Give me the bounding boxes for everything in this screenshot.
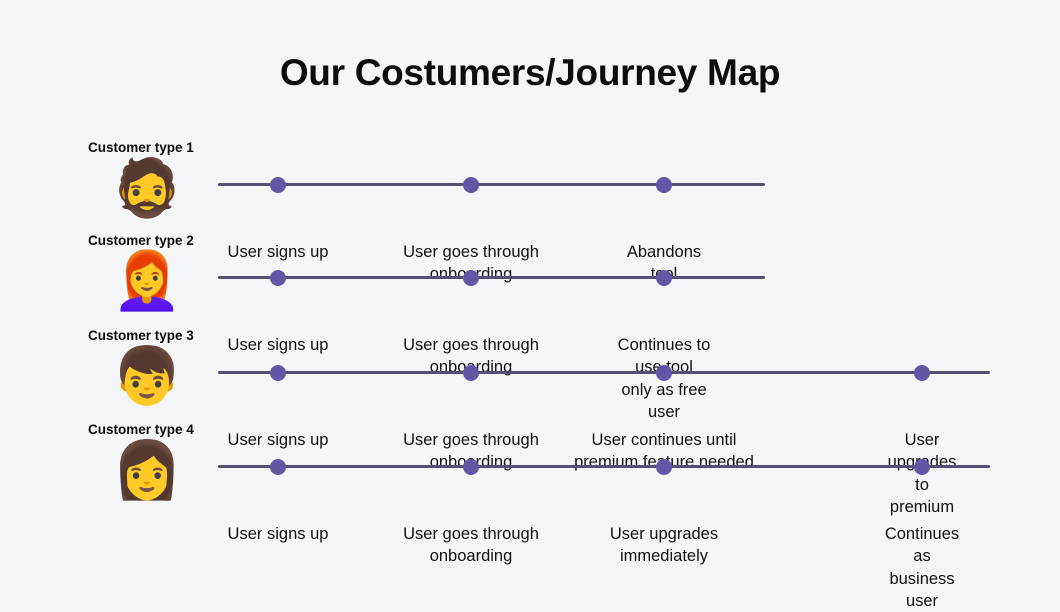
timeline-track: User signs up User goes through onboardi… (218, 371, 990, 375)
timeline-milestone-dot[interactable] (270, 177, 286, 193)
timeline-line (218, 276, 765, 279)
journey-map-canvas: Our Costumers/Journey Map Customer type … (0, 0, 1060, 612)
timeline-step-label: User signs up (228, 523, 329, 545)
timeline-line (218, 183, 765, 186)
timeline-milestone-dot[interactable] (463, 270, 479, 286)
customer-type-label: Customer type 4 (88, 422, 194, 437)
timeline-line (218, 465, 990, 468)
timeline-step-label: User signs up (228, 334, 329, 356)
timeline-step-label: User signs up (228, 241, 329, 263)
timeline-milestone-dot[interactable] (656, 459, 672, 475)
timeline-milestone-dot[interactable] (463, 459, 479, 475)
customer-type-label: Customer type 3 (88, 328, 194, 343)
page-title: Our Costumers/Journey Map (0, 52, 1060, 94)
timeline-milestone-dot[interactable] (914, 365, 930, 381)
timeline-step-label: Continues as business user (885, 523, 959, 612)
bearded-man-emoji: 🧔 (112, 158, 174, 220)
timeline-milestone-dot[interactable] (270, 365, 286, 381)
customer-type-label: Customer type 1 (88, 140, 194, 155)
red-haired-woman-emoji: 👩‍🦰 (112, 251, 174, 313)
timeline-milestone-dot[interactable] (463, 365, 479, 381)
customer-type-label: Customer type 2 (88, 233, 194, 248)
timeline-milestone-dot[interactable] (270, 459, 286, 475)
timeline-milestone-dot[interactable] (463, 177, 479, 193)
timeline-step-label: User upgrades immediately (610, 523, 718, 568)
timeline-milestone-dot[interactable] (914, 459, 930, 475)
timeline-track: User signs up User goes through onboardi… (218, 465, 990, 469)
timeline-milestone-dot[interactable] (656, 270, 672, 286)
timeline-milestone-dot[interactable] (656, 365, 672, 381)
timeline-step-label: User signs up (228, 429, 329, 451)
timeline-milestone-dot[interactable] (270, 270, 286, 286)
timeline-track: User signs up User goes through onboardi… (218, 276, 765, 280)
timeline-line (218, 371, 990, 374)
timeline-track: User signs up User goes through onboardi… (218, 183, 765, 187)
boy-emoji: 👦 (112, 346, 174, 408)
black-haired-woman-emoji: 👩 (112, 440, 174, 502)
timeline-milestone-dot[interactable] (656, 177, 672, 193)
timeline-step-label: User goes through onboarding (403, 523, 539, 568)
